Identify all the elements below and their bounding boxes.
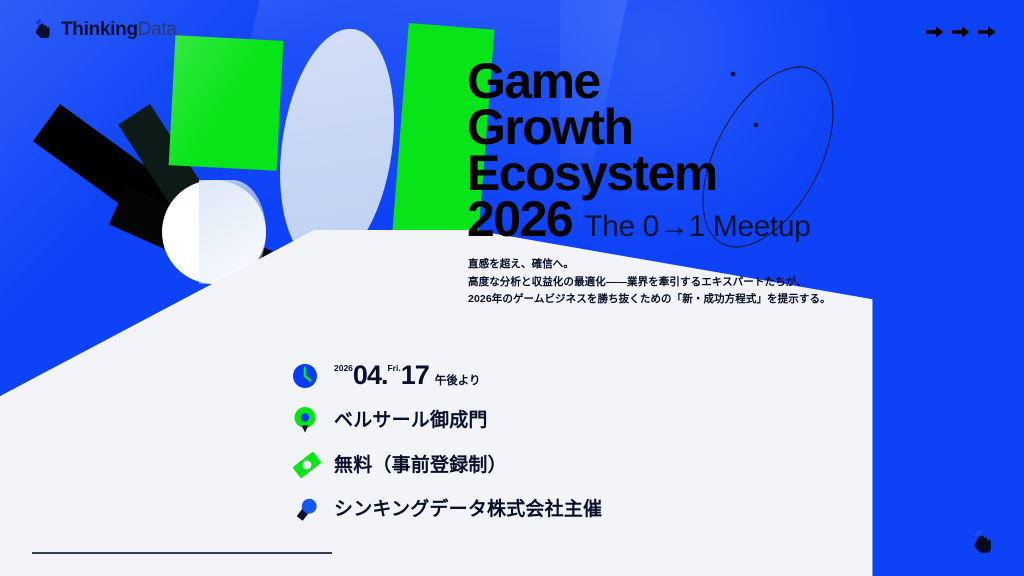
date-time-note: 午後より xyxy=(435,372,481,388)
event-poster: ThinkingData Game Growth Ecosystem 2026 … xyxy=(0,0,1024,576)
brand-name-bold: Thinking xyxy=(61,19,138,40)
arrow-right-icon xyxy=(952,24,970,40)
info-row-venue: ベルサール御成門 xyxy=(292,405,602,435)
arrow-right-icon xyxy=(978,24,996,40)
event-info-list: 2026 04. Fri. 17 午後より ベルサール御成門 xyxy=(292,362,602,539)
brand-logo: ThinkingData xyxy=(32,18,177,40)
event-description: 直感を超え、確信へ。 高度な分析と収益化の最適化——業界を牽引するエキスパートた… xyxy=(468,256,938,309)
green-rectangle-small xyxy=(169,35,284,170)
footer-brand-mark xyxy=(970,528,996,561)
map-pin-icon xyxy=(292,405,334,435)
host-label: シンキングデータ株式会社主催 xyxy=(334,500,602,519)
title-subtitle: The 0→1 Meetup xyxy=(584,210,810,244)
title-year: 2026 xyxy=(467,196,572,244)
arrow-right-icon xyxy=(926,24,944,40)
description-line-2: 高度な分析と収益化の最適化——業界を牽引するエキスパートたちが、 xyxy=(468,274,938,292)
title-line-2: Growth xyxy=(467,104,1024,150)
date-year: 2026 xyxy=(334,364,353,373)
description-line-3: 2026年のゲームビジネスを勝ち抜くための「新・成功方程式」を提示する。 xyxy=(468,291,938,309)
date-text: 2026 04. Fri. 17 午後より xyxy=(334,362,481,389)
date-day: 17 xyxy=(401,362,429,389)
brand-name: ThinkingData xyxy=(61,20,177,39)
brand-name-light: Data xyxy=(138,19,177,40)
info-row-date: 2026 04. Fri. 17 午後より xyxy=(292,362,602,389)
arrow-group xyxy=(926,24,996,40)
title-line-3: Ecosystem xyxy=(467,150,1024,196)
description-line-1: 直感を超え、確信へ。 xyxy=(468,256,938,274)
date-month: 04. xyxy=(353,362,388,389)
microphone-icon xyxy=(292,495,334,523)
event-title: Game Growth Ecosystem 2026 The 0→1 Meetu… xyxy=(467,58,1024,244)
title-line-1: Game xyxy=(467,58,1024,104)
info-row-host: シンキングデータ株式会社主催 xyxy=(292,495,602,523)
title-year-row: 2026 The 0→1 Meetup xyxy=(467,196,1024,244)
date-weekday: Fri. xyxy=(387,364,400,373)
ticket-icon xyxy=(292,451,334,479)
hand-pointer-icon xyxy=(32,18,54,40)
venue-label: ベルサール御成門 xyxy=(334,411,488,430)
clock-icon xyxy=(292,363,334,389)
info-row-price: 無料（事前登録制） xyxy=(292,451,602,479)
footer-divider xyxy=(32,552,332,554)
hand-pointer-icon xyxy=(970,528,996,556)
price-label: 無料（事前登録制） xyxy=(334,456,507,475)
